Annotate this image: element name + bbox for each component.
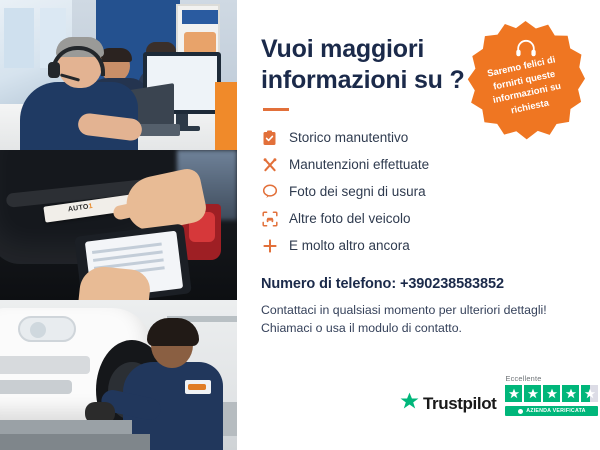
agent-foreground [20,40,138,150]
promo-banner: AUTO1 [0,0,600,450]
trustpilot-star-icon [400,392,419,416]
lift-platform [0,434,150,450]
title-underline [263,108,289,111]
trustpilot-wordmark: Trustpilot [423,394,496,414]
verified-badge: AZIENDA VERIFICATA [505,406,598,416]
contact-line-2: Chiamaci o usa il modulo di contatto. [261,319,574,337]
speech-bubble-icon [261,183,278,200]
star-icon-partial [581,385,598,402]
trustpilot-score: Eccellente AZIENDA VERIFICATA [505,374,598,416]
feature-list: Storico manutentivo Manutenzioni effettu… [261,124,574,259]
verified-check-icon [518,409,523,414]
star-icon [543,385,560,402]
uniform-logo-patch [185,380,211,394]
list-item-foto-segni-usura: Foto dei segni di usura [261,178,574,205]
list-item-label: Altre foto del veicolo [289,211,411,226]
photo-frame-car-icon [261,210,278,227]
lift-arm [0,420,132,434]
verified-label: AZIENDA VERIFICATA [526,408,585,414]
contact-text: Contattaci in qualsiasi momento per ulte… [261,301,574,338]
photo-mechanic-car-lift [0,300,237,450]
phone-number[interactable]: Numero di telefono: +390238583852 [261,276,574,292]
list-item-label: Manutenzioni effettuate [289,157,429,172]
trustpilot-rating[interactable]: Trustpilot Eccellente AZIENDA VERIFICATA [400,374,598,416]
list-item-altre-foto-veicolo: Altre foto del veicolo [261,205,574,232]
photo-call-center [0,0,237,150]
lower-grille [0,380,72,394]
star-rating [505,385,598,402]
list-item-label: Foto dei segni di usura [289,184,426,199]
star-icon [562,385,579,402]
star-icon [505,385,522,402]
page-title: Vuoi maggiori informazioni su ? [261,34,466,95]
contact-line-1: Contattaci in qualsiasi momento per ulte… [261,301,574,319]
clipboard-check-icon [261,129,278,146]
orange-divider-bar [215,82,237,150]
mechanic [119,322,223,450]
content-panel: Vuoi maggiori informazioni su ? Storico … [237,0,600,450]
rating-label: Eccellente [505,374,541,383]
headlight-core [30,322,46,338]
trustpilot-logo: Trustpilot [400,392,496,416]
callout-badge: Saremo felici di fornirti queste informa… [466,21,585,140]
photo-strip: AUTO1 [0,0,237,450]
headlight [18,316,76,342]
photo-vehicle-inspection: AUTO1 [0,150,237,300]
list-item-label: E molto altro ancora [289,238,410,253]
list-item-molto-altro: E molto altro ancora [261,232,574,259]
front-grille [0,356,90,374]
star-icon [524,385,541,402]
list-item-label: Storico manutentivo [289,130,408,145]
plus-icon [261,237,278,254]
list-item-manutenzioni-effettuate: Manutenzioni effettuate [261,151,574,178]
headset-earcup [48,62,60,78]
wrench-cross-icon [261,156,278,173]
